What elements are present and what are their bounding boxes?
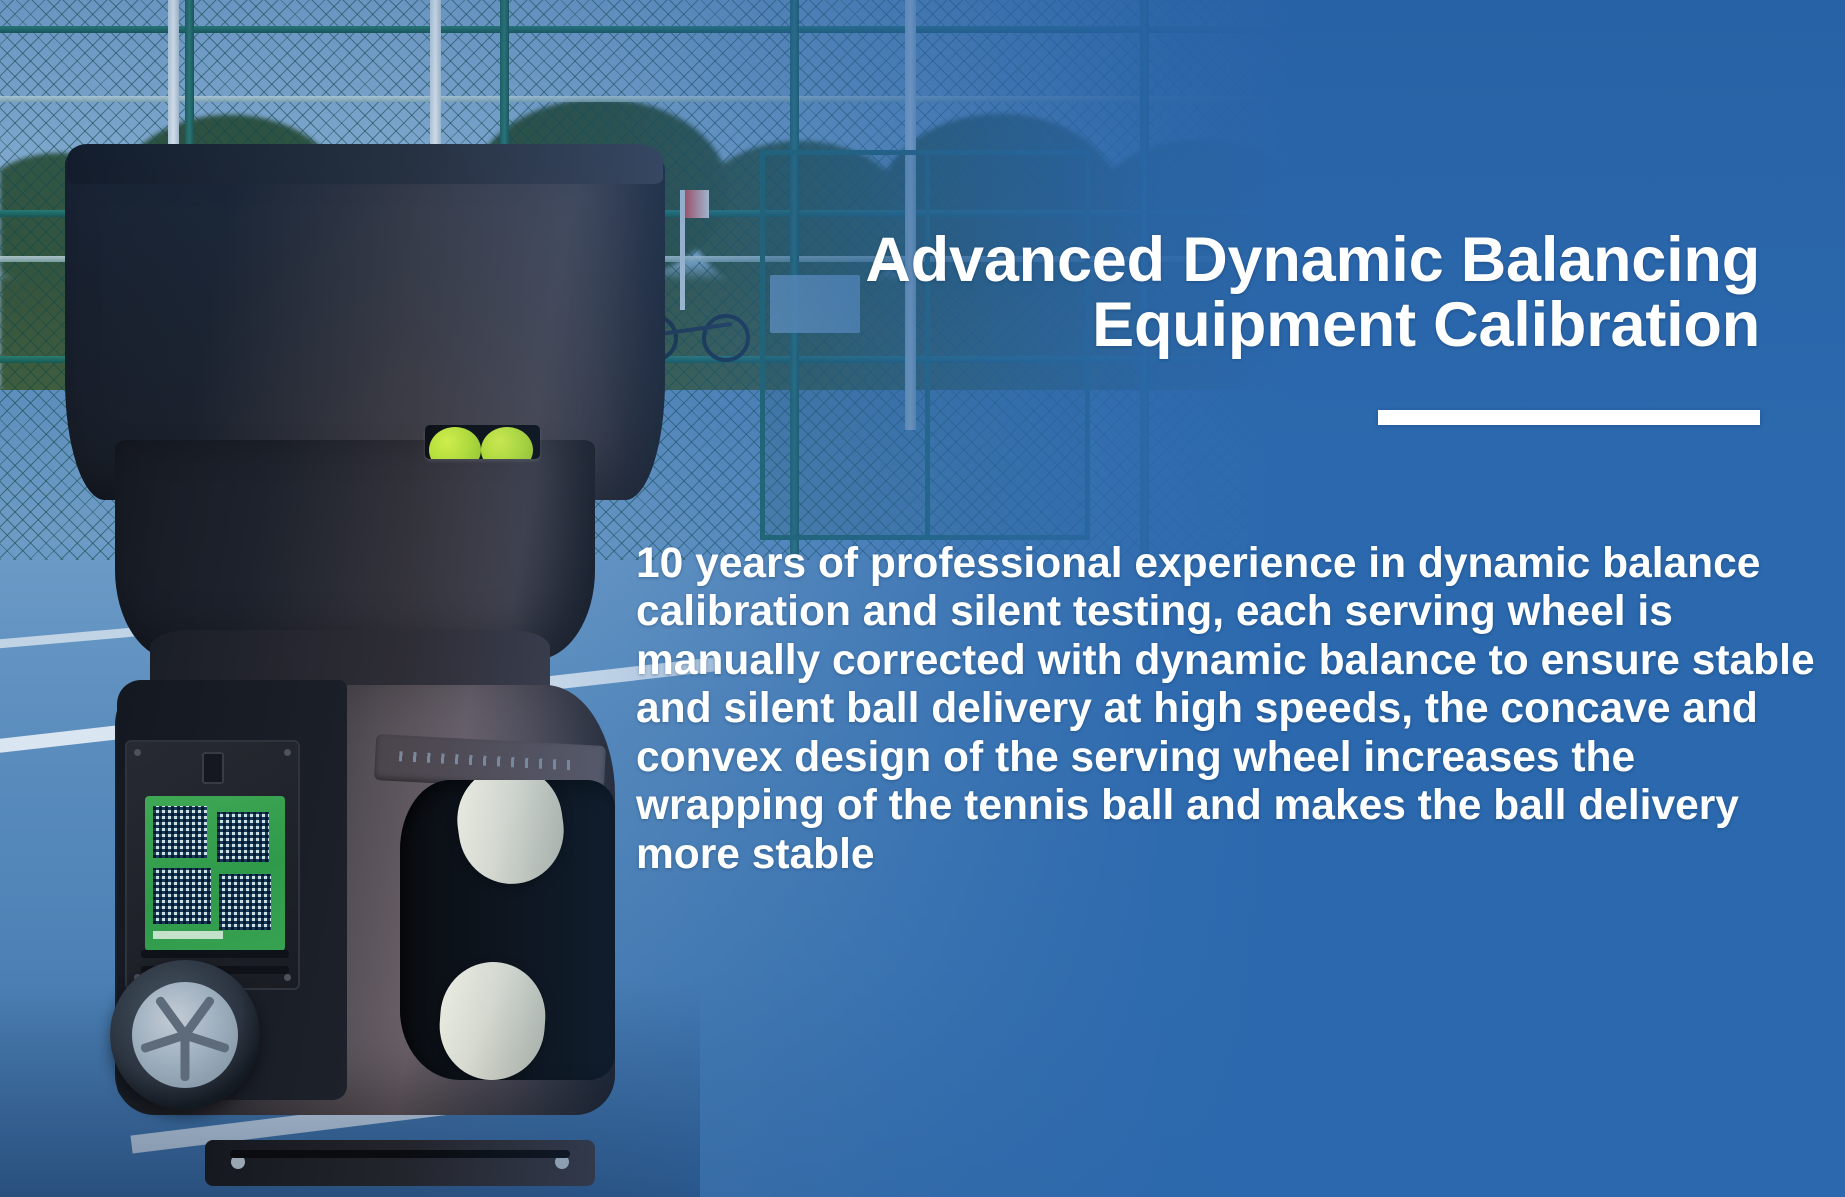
panel-screw (284, 749, 291, 756)
page-title: Advanced Dynamic Balancing Equipment Cal… (700, 228, 1760, 358)
tennis-ball (429, 427, 481, 459)
body-block: 10 years of professional experience in d… (636, 540, 1826, 879)
panel-screw (284, 974, 291, 981)
label-barcode (153, 931, 223, 939)
serving-wheel-upper (450, 780, 570, 891)
control-panel-door (125, 740, 300, 990)
panel-screw (134, 749, 141, 756)
panel-vent (141, 950, 289, 958)
product-feature-banner: Advanced Dynamic Balancing Equipment Cal… (0, 0, 1845, 1197)
body-paragraph: 10 years of professional experience in d… (636, 540, 1826, 879)
serving-wheel-window (400, 780, 615, 1080)
base-slot (230, 1150, 570, 1158)
flag (685, 190, 709, 218)
hopper-lower (115, 440, 595, 660)
serving-wheel-lower (436, 958, 549, 1080)
transport-wheel (110, 960, 260, 1110)
panel-latch (202, 752, 224, 784)
tennis-ball-machine (55, 140, 675, 1197)
qr-code-icon (153, 806, 207, 858)
title-underline-rule (1378, 410, 1760, 425)
title-block: Advanced Dynamic Balancing Equipment Cal… (700, 228, 1760, 425)
product-label (145, 796, 285, 951)
qr-code-icon (219, 874, 271, 930)
tennis-ball (481, 427, 533, 459)
ball-window (425, 425, 540, 459)
machine-base-bar (205, 1140, 595, 1186)
qr-code-icon (153, 868, 211, 924)
hopper-rim (67, 144, 663, 184)
qr-code-icon (217, 812, 269, 862)
